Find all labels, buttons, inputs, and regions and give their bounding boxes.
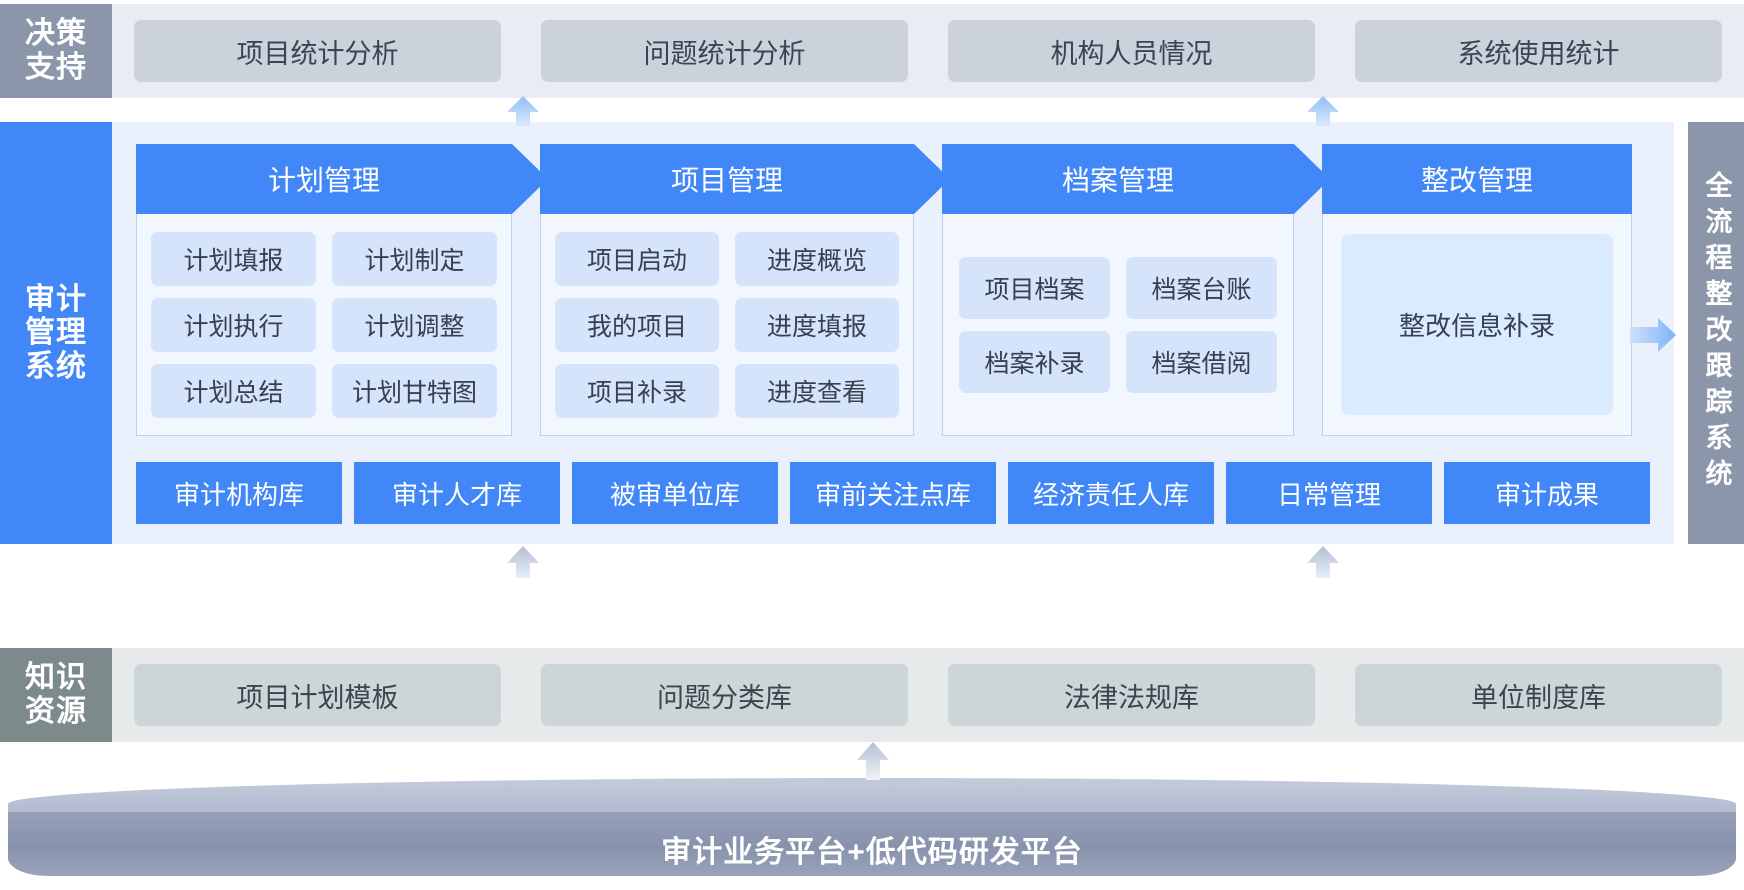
decision-support-card-list: 项目统计分析 问题统计分析 机构人员情况 系统使用统计	[112, 4, 1744, 98]
decision-support-card[interactable]: 项目统计分析	[134, 20, 501, 82]
process-column-rectification: 整改管理 整改信息补录	[1322, 144, 1632, 436]
library-pill[interactable]: 经济责任人库	[1008, 462, 1214, 524]
process-column-header[interactable]: 计划管理	[136, 144, 512, 214]
audit-system-side-label-line-3: 系统	[25, 350, 87, 384]
process-column-header[interactable]: 项目管理	[540, 144, 914, 214]
process-tile[interactable]: 计划执行	[151, 298, 316, 352]
decision-support-side-label-line-1: 决策	[25, 17, 87, 51]
process-column-header[interactable]: 档案管理	[942, 144, 1294, 214]
library-pill[interactable]: 审计成果	[1444, 462, 1650, 524]
arrow-up-icon	[505, 96, 541, 126]
audit-system-side-label-line-2: 管理	[25, 316, 87, 350]
audit-system-side-label: 审计 管理 系统	[0, 122, 112, 544]
process-tile[interactable]: 进度查看	[735, 364, 899, 418]
process-column-title: 项目管理	[671, 159, 783, 199]
knowledge-resources-side-label: 知识 资源	[0, 648, 112, 742]
architecture-diagram: 决策 支持 项目统计分析 问题统计分析 机构人员情况 系统使用统计 审计 管理 …	[0, 0, 1744, 890]
process-tile[interactable]: 档案借阅	[1126, 331, 1277, 393]
decision-support-card[interactable]: 机构人员情况	[948, 20, 1315, 82]
knowledge-resources-side-label-line-2: 资源	[25, 695, 87, 729]
process-tile-grid: 项目启动 进度概览 我的项目 进度填报 项目补录 进度查看	[555, 232, 899, 418]
arrow-up-icon	[1305, 546, 1341, 578]
knowledge-resources-card[interactable]: 法律法规库	[948, 664, 1315, 726]
arrow-up-icon	[505, 546, 541, 578]
process-tile[interactable]: 计划制定	[332, 232, 497, 286]
process-column-title: 计划管理	[268, 159, 380, 199]
process-tile[interactable]: 进度概览	[735, 232, 899, 286]
library-pill[interactable]: 被审单位库	[572, 462, 778, 524]
process-column-body: 项目档案 档案台账 档案补录 档案借阅	[942, 214, 1294, 436]
process-tile[interactable]: 计划总结	[151, 364, 316, 418]
decision-support-side-label: 决策 支持	[0, 4, 112, 98]
process-column-title: 档案管理	[1062, 159, 1174, 199]
decision-support-side-label-line-2: 支持	[25, 51, 87, 85]
knowledge-resources-card-list: 项目计划模板 问题分类库 法律法规库 单位制度库	[112, 648, 1744, 742]
process-tile[interactable]: 项目档案	[959, 257, 1110, 319]
process-column-title: 整改管理	[1421, 159, 1533, 199]
library-pill[interactable]: 日常管理	[1226, 462, 1432, 524]
knowledge-resources-card[interactable]: 问题分类库	[541, 664, 908, 726]
process-tile[interactable]: 项目启动	[555, 232, 719, 286]
process-column-body: 计划填报 计划制定 计划执行 计划调整 计划总结 计划甘特图	[136, 214, 512, 436]
process-tile[interactable]: 计划调整	[332, 298, 497, 352]
process-column-plan: 计划管理 计划填报 计划制定 计划执行 计划调整 计划总结 计划甘特图	[136, 144, 512, 436]
process-column-header[interactable]: 整改管理	[1322, 144, 1632, 214]
process-column-project: 项目管理 项目启动 进度概览 我的项目 进度填报 项目补录 进度查看	[540, 144, 914, 436]
arrow-up-icon	[1305, 96, 1341, 126]
library-pill-row: 审计机构库 审计人才库 被审单位库 审前关注点库 经济责任人库 日常管理 审计成…	[136, 462, 1650, 524]
knowledge-resources-side-label-line-1: 知识	[25, 661, 87, 695]
process-tile[interactable]: 档案补录	[959, 331, 1110, 393]
process-tile[interactable]: 进度填报	[735, 298, 899, 352]
process-columns: 计划管理 计划填报 计划制定 计划执行 计划调整 计划总结 计划甘特图	[136, 144, 1650, 436]
process-tile[interactable]: 整改信息补录	[1341, 234, 1613, 415]
library-pill[interactable]: 审前关注点库	[790, 462, 996, 524]
audit-system-body: 计划管理 计划填报 计划制定 计划执行 计划调整 计划总结 计划甘特图	[112, 122, 1674, 544]
process-tile[interactable]: 计划甘特图	[332, 364, 497, 418]
audit-management-band: 审计 管理 系统 计划管理 计划填报	[0, 122, 1744, 544]
process-column-body: 整改信息补录	[1322, 214, 1632, 436]
process-tile[interactable]: 计划填报	[151, 232, 316, 286]
library-pill[interactable]: 审计人才库	[354, 462, 560, 524]
process-column-body: 项目启动 进度概览 我的项目 进度填报 项目补录 进度查看	[540, 214, 914, 436]
decision-support-card[interactable]: 系统使用统计	[1355, 20, 1722, 82]
knowledge-resources-band: 知识 资源 项目计划模板 问题分类库 法律法规库 单位制度库	[0, 648, 1744, 742]
process-tile[interactable]: 项目补录	[555, 364, 719, 418]
audit-system-side-label-line-1: 审计	[25, 283, 87, 317]
platform-front-face: 审计业务平台+低代码研发平台	[8, 812, 1736, 876]
knowledge-resources-card[interactable]: 单位制度库	[1355, 664, 1722, 726]
process-tile[interactable]: 档案台账	[1126, 257, 1277, 319]
process-tile-grid: 项目档案 档案台账 档案补录 档案借阅	[959, 257, 1277, 393]
platform-base: 审计业务平台+低代码研发平台	[0, 778, 1744, 890]
decision-support-band: 决策 支持 项目统计分析 问题统计分析 机构人员情况 系统使用统计	[0, 4, 1744, 98]
arrow-right-icon	[1630, 318, 1676, 352]
process-column-archive: 档案管理 项目档案 档案台账 档案补录 档案借阅	[942, 144, 1294, 436]
library-pill[interactable]: 审计机构库	[136, 462, 342, 524]
panel-spacer	[1674, 122, 1688, 544]
decision-support-card[interactable]: 问题统计分析	[541, 20, 908, 82]
platform-label: 审计业务平台+低代码研发平台	[661, 827, 1083, 871]
process-tile[interactable]: 我的项目	[555, 298, 719, 352]
tracking-system-side-label: 全流程整改跟踪系统	[1688, 122, 1744, 544]
arrow-up-icon	[855, 742, 891, 780]
knowledge-resources-card[interactable]: 项目计划模板	[134, 664, 501, 726]
process-tile-grid: 计划填报 计划制定 计划执行 计划调整 计划总结 计划甘特图	[151, 232, 497, 418]
